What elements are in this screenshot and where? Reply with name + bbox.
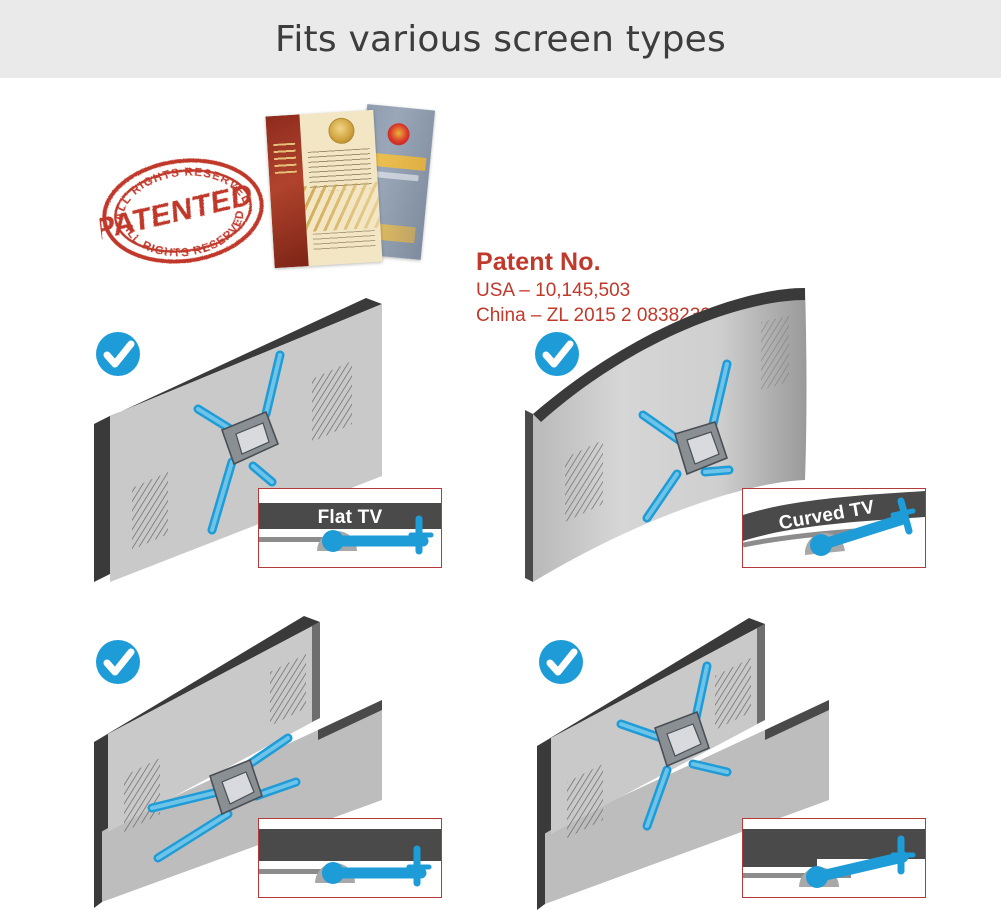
patent-certificates [265,105,465,270]
checkmark-icon [96,332,140,376]
patented-stamp: ★ ALL RIGHTS RESERVED ★ ★ ALL RIGHTS RES… [93,146,273,276]
us-gold-seal-icon [328,117,356,145]
patent-section: ★ ALL RIGHTS RESERVED ★ ★ ALL RIGHTS RES… [0,78,1001,278]
page-header: Fits various screen types [0,0,1001,78]
inset-uneven-back [742,818,926,898]
inset-curved-tv: Curved TV [742,488,926,568]
us-patent-certificate [265,110,382,268]
inset-flat-tv: Flat TV [258,488,442,568]
patent-heading: Patent No. [476,248,727,278]
page-title: Fits various screen types [275,19,726,60]
checkmark-icon [535,332,579,376]
checkmark-icon [539,640,583,684]
inset-flat-tv-label: Flat TV [318,507,383,528]
china-emblem-icon [387,122,411,146]
checkmark-icon [96,640,140,684]
inset-recessed-back [258,818,442,898]
